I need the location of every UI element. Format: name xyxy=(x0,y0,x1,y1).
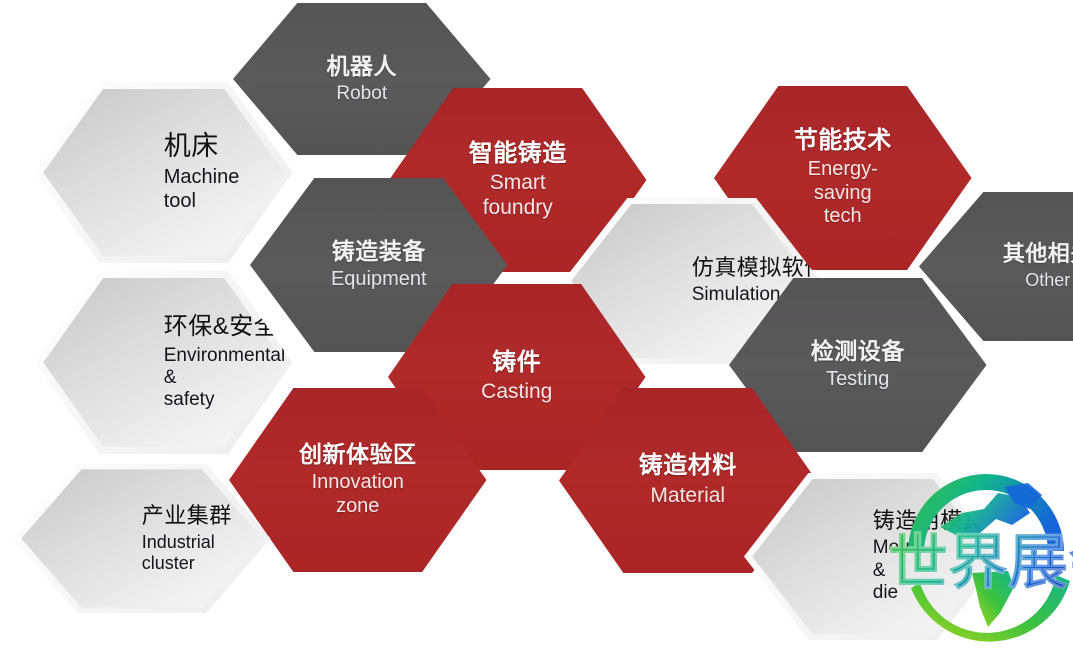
hexagon-label-en: Testing xyxy=(811,368,905,392)
hexagon-label-group: 创新体验区Innovation zone xyxy=(299,441,417,518)
hexagon-label-group: 智能铸造Smart foundry xyxy=(469,140,567,221)
hexagon-label-en: Other xyxy=(1003,270,1073,291)
hexagon-diagram: 机床Machine tool机器人Robot智能铸造Smart foundry节… xyxy=(0,0,1073,648)
hexagon-label-cn: 其他相关 xyxy=(1003,241,1073,267)
hexagon-label-cn: 节能技术 xyxy=(794,127,892,155)
hexagon-label-cn: 智能铸造 xyxy=(469,140,567,168)
hexagon-industrial-cluster[interactable]: 产业集群Industrial cluster xyxy=(13,464,271,613)
logo-text: 世界展会 xyxy=(888,529,1073,596)
hexagon-label-group: 其他相关Other xyxy=(1003,241,1073,291)
hexagon-label-cn: 铸造材料 xyxy=(639,452,737,480)
hexagon-label-cn: 铸件 xyxy=(481,349,552,377)
hexagon-label-en: Casting xyxy=(481,380,552,405)
hexagon-label-cn: 铸造装备 xyxy=(331,238,427,265)
hexagon-machine-tool[interactable]: 机床Machine tool xyxy=(35,82,293,263)
hexagon-environmental-safety[interactable]: 环保&安全Environmental & safety xyxy=(35,271,293,454)
hexagon-label-cn: 机器人 xyxy=(327,53,398,80)
hexagon-label-group: 铸造材料Material xyxy=(639,452,737,508)
hexagon-label-en: Energy-saving tech xyxy=(794,158,892,229)
hexagon-label-en: Equipment xyxy=(331,268,427,292)
hexagon-label-en: Robot xyxy=(327,83,398,105)
hexagon-label-en: Innovation zone xyxy=(299,471,417,518)
hexagon-label-group: 节能技术Energy-saving tech xyxy=(794,127,892,229)
hexagon-label-group: 铸件Casting xyxy=(481,349,552,405)
hexagon-label-cn: 创新体验区 xyxy=(299,441,417,468)
hexagon-label-group: 检测设备Testing xyxy=(811,338,905,392)
hexagon-label-cn: 检测设备 xyxy=(811,338,905,365)
world-expo-logo: 世界展会 xyxy=(880,455,1073,650)
hexagon-label-en: Material xyxy=(639,484,737,509)
hexagon-label-group: 机器人Robot xyxy=(327,53,398,106)
hexagon-label-en: Smart foundry xyxy=(469,171,567,221)
hexagon-label-group: 铸造装备Equipment xyxy=(331,238,427,292)
